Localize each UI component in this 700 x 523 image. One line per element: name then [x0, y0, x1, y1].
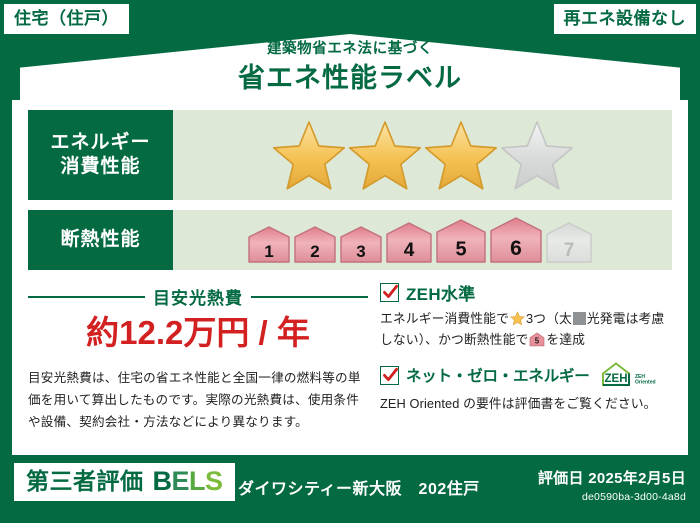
- checkbox-checked-icon[interactable]: [380, 366, 399, 385]
- utility-cost-panel: 目安光熱費 約12.2万円 / 年 目安光熱費は、住宅の省エネ性能と全国一律の燃…: [28, 280, 368, 445]
- bels-letter-e: E: [172, 468, 190, 495]
- lower-section: 目安光熱費 約12.2万円 / 年 目安光熱費は、住宅の省エネ性能と全国一律の燃…: [28, 280, 672, 445]
- star-empty-icon: [499, 119, 575, 191]
- label-footer: 第三者評価 B E L S ダイワシティー新大阪 202住戸 評価日 2025年…: [0, 455, 700, 523]
- zeh-netzero-body: ZEH Oriented の要件は評価書をご覧ください。: [380, 394, 672, 415]
- house-empty-icon: 7: [545, 221, 593, 265]
- house-filled-icon: 6: [489, 216, 543, 265]
- svg-text:1: 1: [264, 242, 273, 261]
- utility-cost-title: 目安光熱費: [153, 284, 243, 309]
- bels-letter-b: B: [153, 468, 172, 495]
- insulation-houses-container: 1234567: [173, 210, 672, 270]
- evaluation-date: 評価日 2025年2月5日: [538, 467, 686, 488]
- bels-wordmark: B E L S: [153, 468, 223, 495]
- energy-performance-row: エネルギー 消費性能: [28, 110, 672, 200]
- zeh-oriented-logo: ZEH ZEH Oriented: [599, 360, 661, 390]
- building-name: ダイワシティー新大阪 202住戸: [238, 475, 480, 499]
- house-filled-icon: 5: [435, 218, 487, 265]
- zeh-standard-title: ZEH水準: [406, 280, 476, 305]
- insulation-performance-label: 断熱性能: [28, 210, 173, 270]
- svg-text:7: 7: [563, 240, 574, 261]
- svg-text:4: 4: [403, 240, 414, 261]
- energy-stars-container: [173, 110, 672, 200]
- zeh-netzero-block: ネット・ゼロ・エネルギー ZEH ZEH Oriented ZEH Orient…: [380, 360, 672, 415]
- house-filled-icon: 4: [385, 221, 433, 265]
- svg-text:5: 5: [455, 238, 466, 260]
- heading-rule-left: [28, 296, 145, 298]
- svg-text:6: 6: [510, 237, 522, 260]
- main-card: エネルギー 消費性能 断熱性能 1234567 目安光熱費: [12, 100, 688, 455]
- bels-energy-label: 建築物省エネ法に基づく 省エネ性能ラベル 住宅（住戸） 再エネ設備なし エネルギ…: [0, 0, 700, 523]
- zeh-body-pre: エネルギー消費性能で: [380, 311, 509, 326]
- house-filled-icon: 3: [339, 225, 383, 265]
- zeh-body-mid: 3つ（太: [526, 311, 572, 326]
- third-party-eval-text: 第三者評価: [26, 470, 144, 493]
- energy-label-line2: 消費性能: [60, 155, 140, 179]
- tag-housing-type: 住宅（住戸）: [4, 4, 129, 34]
- zeh-netzero-heading: ネット・ゼロ・エネルギー ZEH ZEH Oriented: [380, 360, 672, 390]
- heading-rule-right: [251, 296, 368, 298]
- zeh-body-end: を達成: [546, 332, 585, 347]
- zeh-standard-heading: ZEH水準: [380, 280, 672, 305]
- star-inline-icon: [510, 311, 525, 326]
- zeh-netzero-title: ネット・ゼロ・エネルギー: [406, 364, 590, 386]
- svg-text:2: 2: [310, 242, 319, 261]
- bels-letter-l: L: [189, 468, 205, 495]
- checkbox-checked-icon[interactable]: [380, 283, 399, 302]
- evaluation-id: de0590ba-3d00-4a8d: [538, 491, 686, 503]
- svg-text:Oriented: Oriented: [635, 380, 656, 386]
- zeh-standard-block: ZEH水準 エネルギー消費性能で3つ（太光発電は考慮しない）、かつ断熱性能で5を…: [380, 280, 672, 350]
- utility-cost-note: 目安光熱費は、住宅の省エネ性能と全国一律の燃料等の単価を用いて算出したものです。…: [28, 367, 368, 433]
- zeh-panel: ZEH水準 エネルギー消費性能で3つ（太光発電は考慮しない）、かつ断熱性能で5を…: [368, 280, 672, 445]
- zeh-standard-body: エネルギー消費性能で3つ（太光発電は考慮しない）、かつ断熱性能で5を達成: [380, 309, 672, 350]
- star-filled-icon: [347, 119, 423, 191]
- star-filled-icon: [423, 119, 499, 191]
- redacted-character: [573, 312, 586, 325]
- utility-cost-amount: 約12.2万円 / 年: [28, 315, 368, 351]
- svg-text:3: 3: [356, 242, 365, 261]
- energy-performance-label: エネルギー 消費性能: [28, 110, 173, 200]
- house-filled-icon: 2: [293, 225, 337, 265]
- svg-text:5: 5: [535, 336, 540, 345]
- bels-badge: 第三者評価 B E L S: [14, 463, 235, 501]
- house-level-scale: 1234567: [247, 216, 593, 265]
- insulation-label-text: 断熱性能: [60, 228, 140, 252]
- bels-letter-s: S: [205, 468, 223, 495]
- star-rating: [271, 119, 575, 191]
- energy-label-line1: エネルギー: [50, 131, 150, 155]
- utility-cost-heading: 目安光熱費: [28, 284, 368, 309]
- house-level-inline-icon: 5: [529, 332, 545, 347]
- roof-shape: [20, 34, 680, 104]
- svg-text:ZEH: ZEH: [604, 373, 627, 385]
- evaluation-info: 評価日 2025年2月5日 de0590ba-3d00-4a8d: [538, 467, 686, 503]
- insulation-performance-row: 断熱性能 1234567: [28, 210, 672, 270]
- star-filled-icon: [271, 119, 347, 191]
- tag-renewable-equipment: 再エネ設備なし: [554, 4, 697, 34]
- house-filled-icon: 1: [247, 225, 291, 265]
